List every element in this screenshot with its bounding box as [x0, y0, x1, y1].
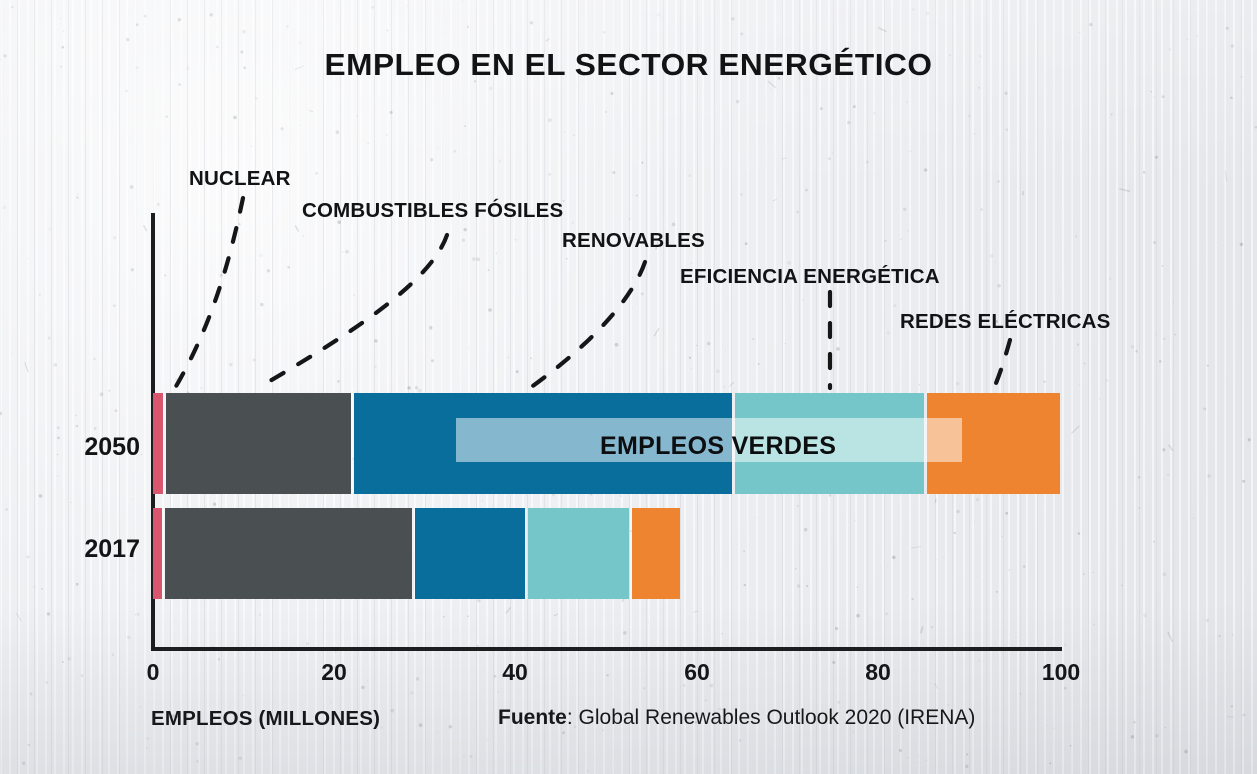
- bar-2017-nuclear[interactable]: [153, 508, 162, 599]
- annotation-label-efficiency: EFICIENCIA ENERGÉTICA: [680, 265, 940, 289]
- bar-2017-grids[interactable]: [632, 508, 680, 599]
- category-label-2050: 2050: [10, 433, 140, 462]
- leader-line-fossil: [258, 235, 447, 388]
- leader-line-nuclear: [175, 198, 243, 388]
- chart-stage: EMPLEO EN EL SECTOR ENERGÉTICO NUCLEAR C…: [0, 0, 1257, 774]
- x-tick-60: 60: [669, 659, 725, 686]
- bar-2050-nuclear[interactable]: [153, 393, 163, 494]
- bar-row-2017[interactable]: [153, 508, 1060, 599]
- source-note: Fuente: Global Renewables Outlook 2020 (…: [498, 706, 975, 730]
- category-label-2017: 2017: [10, 535, 140, 564]
- x-tick-20: 20: [306, 659, 362, 686]
- x-tick-40: 40: [487, 659, 543, 686]
- leader-line-renewables: [530, 262, 645, 388]
- bar-2050-grids[interactable]: [927, 393, 1060, 494]
- x-axis-caption: EMPLEOS (MILLONES): [151, 707, 380, 731]
- bar-2050-fossil[interactable]: [166, 393, 351, 494]
- x-tick-0: 0: [125, 659, 181, 686]
- annotation-leader-lines: [0, 0, 1257, 774]
- bar-2017-renewables[interactable]: [415, 508, 525, 599]
- annotation-label-grids: REDES ELÉCTRICAS: [900, 310, 1111, 334]
- source-text: : Global Renewables Outlook 2020 (IRENA): [567, 706, 976, 729]
- annotation-label-fossil: COMBUSTIBLES FÓSILES: [302, 199, 563, 223]
- bar-2017-fossil[interactable]: [165, 508, 412, 599]
- annotation-label-nuclear: NUCLEAR: [189, 167, 291, 191]
- green-jobs-label: EMPLEOS VERDES: [600, 432, 836, 461]
- source-prefix: Fuente: [498, 706, 567, 729]
- x-tick-80: 80: [850, 659, 906, 686]
- x-tick-100: 100: [1031, 659, 1091, 686]
- bar-2017-efficiency[interactable]: [528, 508, 629, 599]
- x-axis-line: [151, 647, 1062, 651]
- annotation-label-renewables: RENOVABLES: [562, 229, 705, 253]
- leader-line-grids: [994, 340, 1010, 388]
